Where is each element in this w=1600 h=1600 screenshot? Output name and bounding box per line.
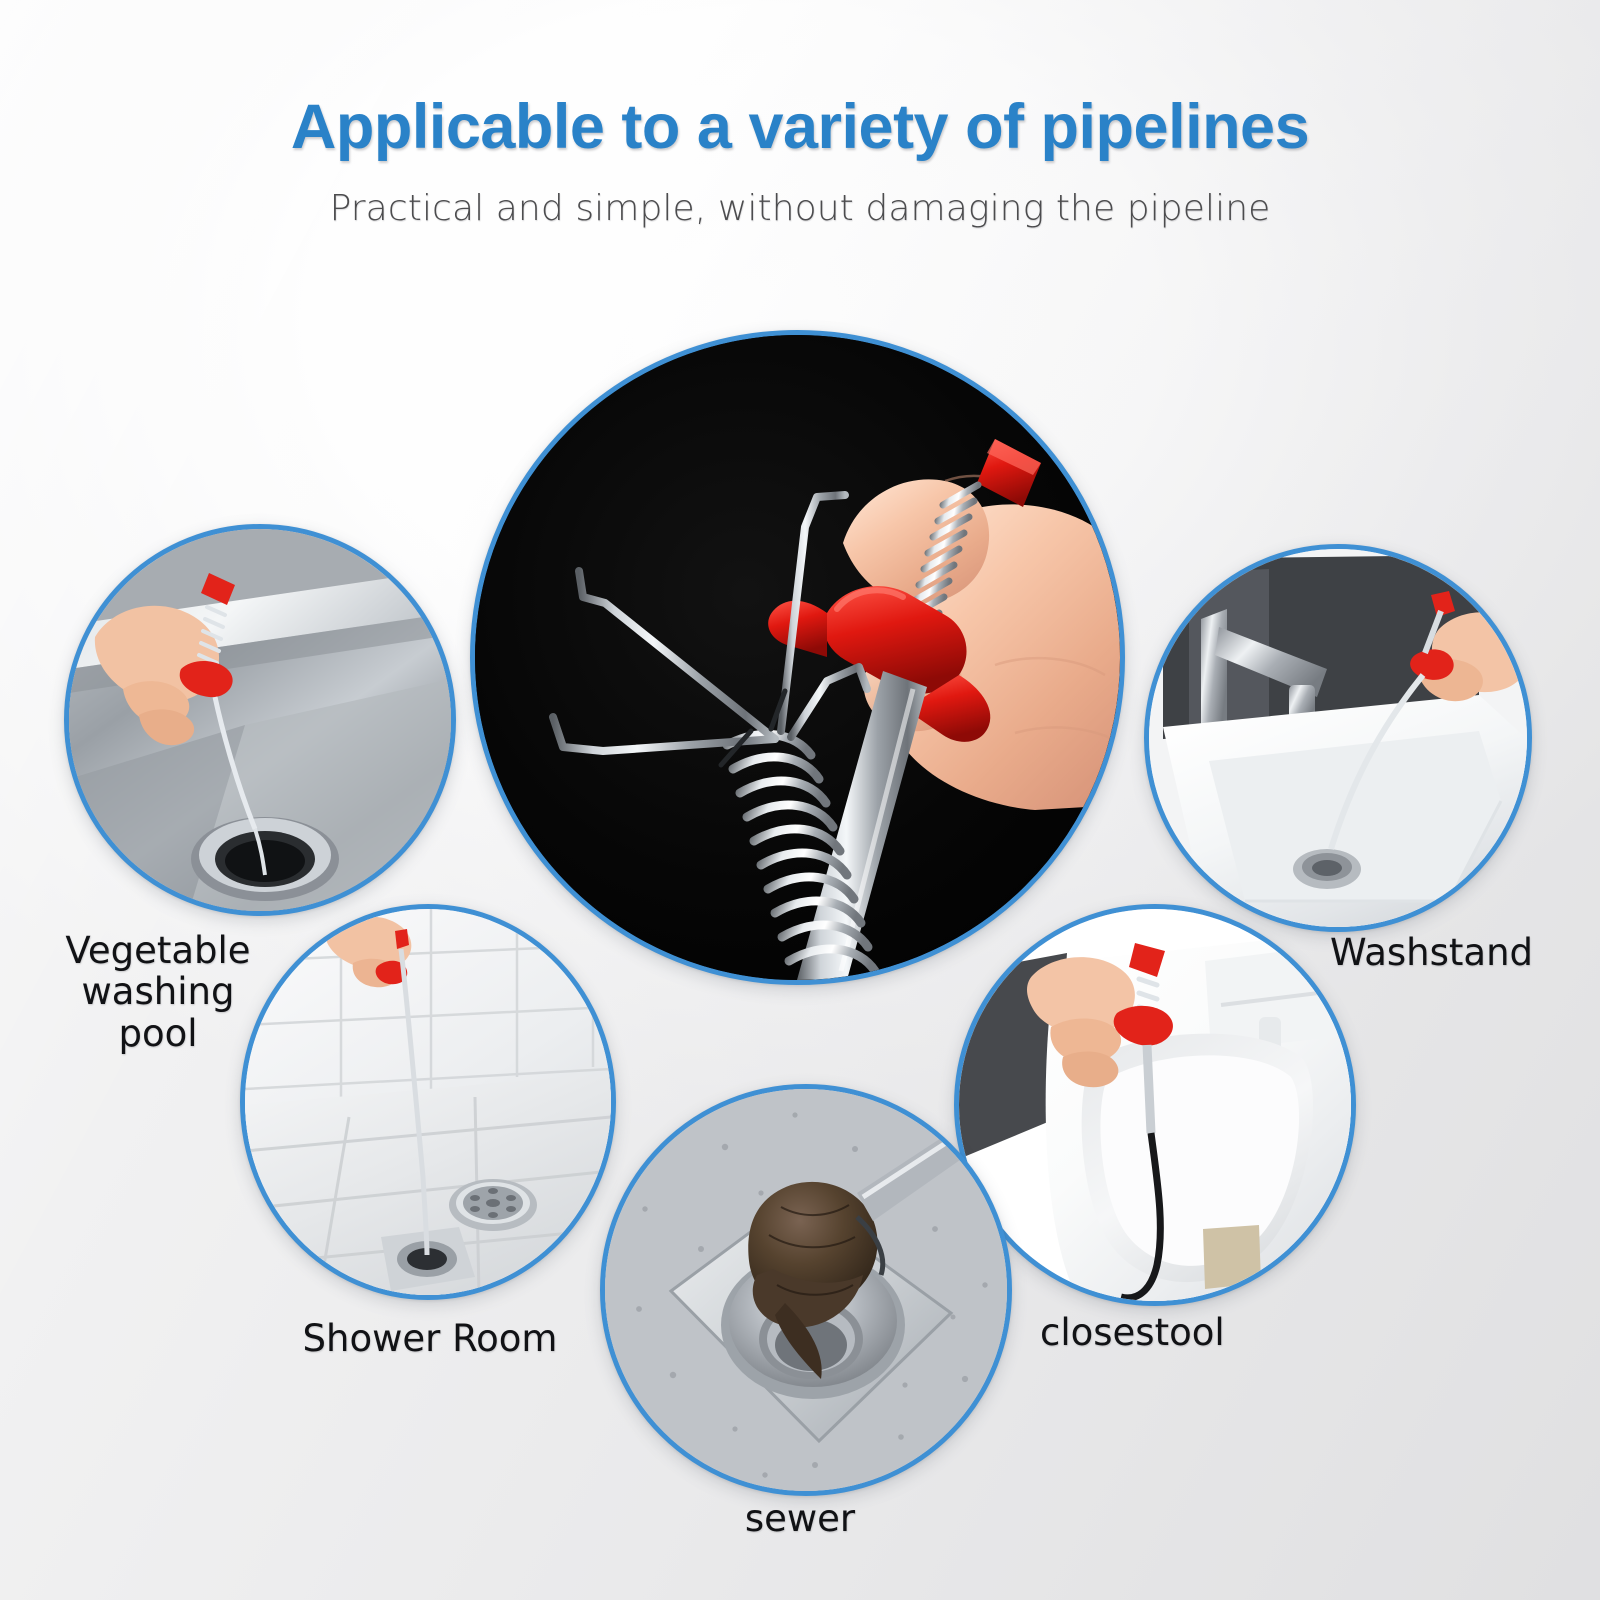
caption-vegetable-washing-pool: Vegetable washing pool (8, 930, 308, 1054)
infographic-canvas: Applicable to a variety of pipelines Pra… (0, 0, 1600, 1600)
scene-circle-washstand[interactable] (1144, 544, 1532, 932)
floor-drain-round (449, 1179, 537, 1231)
header: Applicable to a variety of pipelines Pra… (0, 0, 1600, 230)
washbasin-photo (1149, 549, 1527, 927)
page-subtitle: Practical and simple, without damaging t… (0, 161, 1600, 230)
caption-sewer: sewer (690, 1498, 910, 1539)
kitchen-sink-photo (69, 529, 451, 911)
page-title: Applicable to a variety of pipelines (0, 0, 1600, 161)
sewer-drain-photo (605, 1089, 1007, 1491)
drain-snake-tool-illustration (475, 335, 1120, 980)
scene-circle-main[interactable] (470, 330, 1125, 985)
caption-closestool: closestool (1040, 1312, 1300, 1353)
caption-washstand: Washstand (1330, 932, 1600, 973)
handle-top-cap (977, 439, 1041, 507)
product-hero-photo (475, 335, 1120, 980)
caption-shower-room: Shower Room (300, 1318, 560, 1359)
scene-circle-vegetable-washing-pool[interactable] (64, 524, 456, 916)
scene-circle-sewer[interactable] (600, 1084, 1012, 1496)
